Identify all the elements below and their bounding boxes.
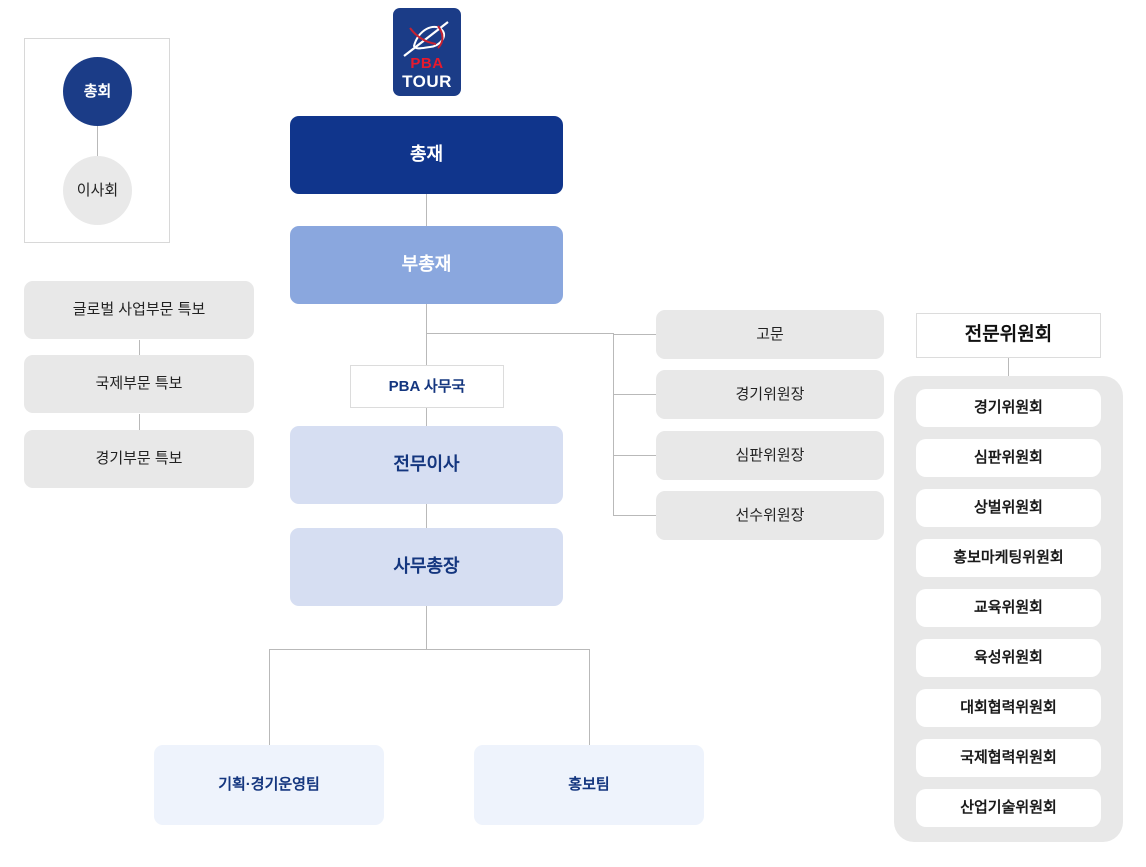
node-board-of-directors[interactable]: 이사회 xyxy=(63,156,132,225)
connector-md-sg xyxy=(426,504,427,528)
committee-item-industry-technology-label: 산업기술위원회 xyxy=(960,798,1057,818)
node-team-pr-label: 홍보팀 xyxy=(568,775,609,795)
committee-item-development[interactable]: 육성위원회 xyxy=(916,639,1101,677)
pba-tour-logo: PBA TOUR xyxy=(393,8,461,96)
committee-item-tournament-cooperation[interactable]: 대회협력위원회 xyxy=(916,689,1101,727)
committee-item-international-cooperation[interactable]: 국제협력위원회 xyxy=(916,739,1101,777)
node-advisor-global-business[interactable]: 글로벌 사업부문 특보 xyxy=(24,281,254,339)
node-chair-referee-label: 심판위원장 xyxy=(735,446,804,466)
committee-item-competition-label: 경기위원회 xyxy=(974,398,1043,418)
node-committees-title-label: 전문위원회 xyxy=(965,323,1052,348)
connector-chair-competition xyxy=(613,394,656,395)
committee-item-education-label: 교육위원회 xyxy=(974,598,1043,618)
committee-item-tournament-cooperation-label: 대회협력위원회 xyxy=(960,698,1057,718)
connector-assembly-board xyxy=(97,124,98,158)
committee-item-industry-technology[interactable]: 산업기술위원회 xyxy=(916,789,1101,827)
committee-item-referee-label: 심판위원회 xyxy=(974,448,1043,468)
node-pba-secretariat-label: PBA 사무국 xyxy=(389,377,466,397)
node-general-assembly-label: 총회 xyxy=(84,82,112,102)
node-chair-player[interactable]: 선수위원장 xyxy=(656,491,884,540)
connector-president-vice xyxy=(426,193,427,226)
node-president[interactable]: 총재 xyxy=(290,116,563,194)
node-team-planning-operations[interactable]: 기획·경기운영팀 xyxy=(154,745,384,825)
node-chair-advisor-label: 고문 xyxy=(756,325,784,345)
node-chair-competition-label: 경기위원장 xyxy=(735,385,804,405)
node-managing-director-label: 전무이사 xyxy=(393,453,459,476)
node-general-assembly[interactable]: 총회 xyxy=(63,57,132,126)
committee-item-discipline[interactable]: 상벌위원회 xyxy=(916,489,1101,527)
node-advisor-international[interactable]: 국제부문 특보 xyxy=(24,355,254,413)
node-chair-competition[interactable]: 경기위원장 xyxy=(656,370,884,419)
node-president-label: 총재 xyxy=(410,143,443,166)
committee-item-international-cooperation-label: 국제협력위원회 xyxy=(960,748,1057,768)
node-chair-advisor[interactable]: 고문 xyxy=(656,310,884,359)
node-managing-director[interactable]: 전무이사 xyxy=(290,426,563,504)
node-advisor-competition[interactable]: 경기부문 특보 xyxy=(24,430,254,488)
connector-team-left-drop xyxy=(269,649,270,745)
node-team-pr[interactable]: 홍보팀 xyxy=(474,745,704,825)
connector-team-right-drop xyxy=(589,649,590,745)
node-vice-president-label: 부총재 xyxy=(402,253,452,276)
node-secretary-general[interactable]: 사무총장 xyxy=(290,528,563,606)
node-chair-referee[interactable]: 심판위원장 xyxy=(656,431,884,480)
node-secretary-general-label: 사무총장 xyxy=(393,555,459,578)
connector-vice-trunk xyxy=(426,304,427,366)
connector-chair-player xyxy=(613,515,656,516)
connector-chair-referee xyxy=(613,455,656,456)
committee-item-discipline-label: 상벌위원회 xyxy=(974,498,1043,518)
billiard-cue-icon xyxy=(400,16,454,60)
connector-vice-to-chairs xyxy=(426,333,614,334)
node-vice-president[interactable]: 부총재 xyxy=(290,226,563,304)
node-advisor-global-business-label: 글로벌 사업부문 특보 xyxy=(73,300,206,320)
committee-item-competition[interactable]: 경기위원회 xyxy=(916,389,1101,427)
connector-secretariat-md xyxy=(426,407,427,426)
node-chair-player-label: 선수위원장 xyxy=(735,506,804,526)
committee-item-education[interactable]: 교육위원회 xyxy=(916,589,1101,627)
committee-item-development-label: 육성위원회 xyxy=(974,648,1043,668)
logo-tour-text: TOUR xyxy=(402,73,452,90)
node-board-of-directors-label: 이사회 xyxy=(77,181,118,201)
connector-chair-advisor xyxy=(613,334,656,335)
committee-item-pr-marketing-label: 홍보마케팅위원회 xyxy=(953,548,1063,568)
connector-committees-title-panel xyxy=(1008,358,1009,377)
org-chart: PBA TOUR 총회 이사회 글로벌 사업부문 특보 국제부문 특보 경기부문… xyxy=(0,0,1146,867)
connector-chairs-spine xyxy=(613,333,614,515)
committee-item-referee[interactable]: 심판위원회 xyxy=(916,439,1101,477)
node-pba-secretariat[interactable]: PBA 사무국 xyxy=(350,365,504,408)
connector-sg-trunk xyxy=(426,606,427,649)
node-advisor-competition-label: 경기부문 특보 xyxy=(96,449,183,469)
node-advisor-international-label: 국제부문 특보 xyxy=(96,374,183,394)
node-committees-title: 전문위원회 xyxy=(916,313,1101,358)
connector-team-bracket xyxy=(269,649,589,650)
node-team-planning-operations-label: 기획·경기운영팀 xyxy=(218,775,320,795)
committee-item-pr-marketing[interactable]: 홍보마케팅위원회 xyxy=(916,539,1101,577)
